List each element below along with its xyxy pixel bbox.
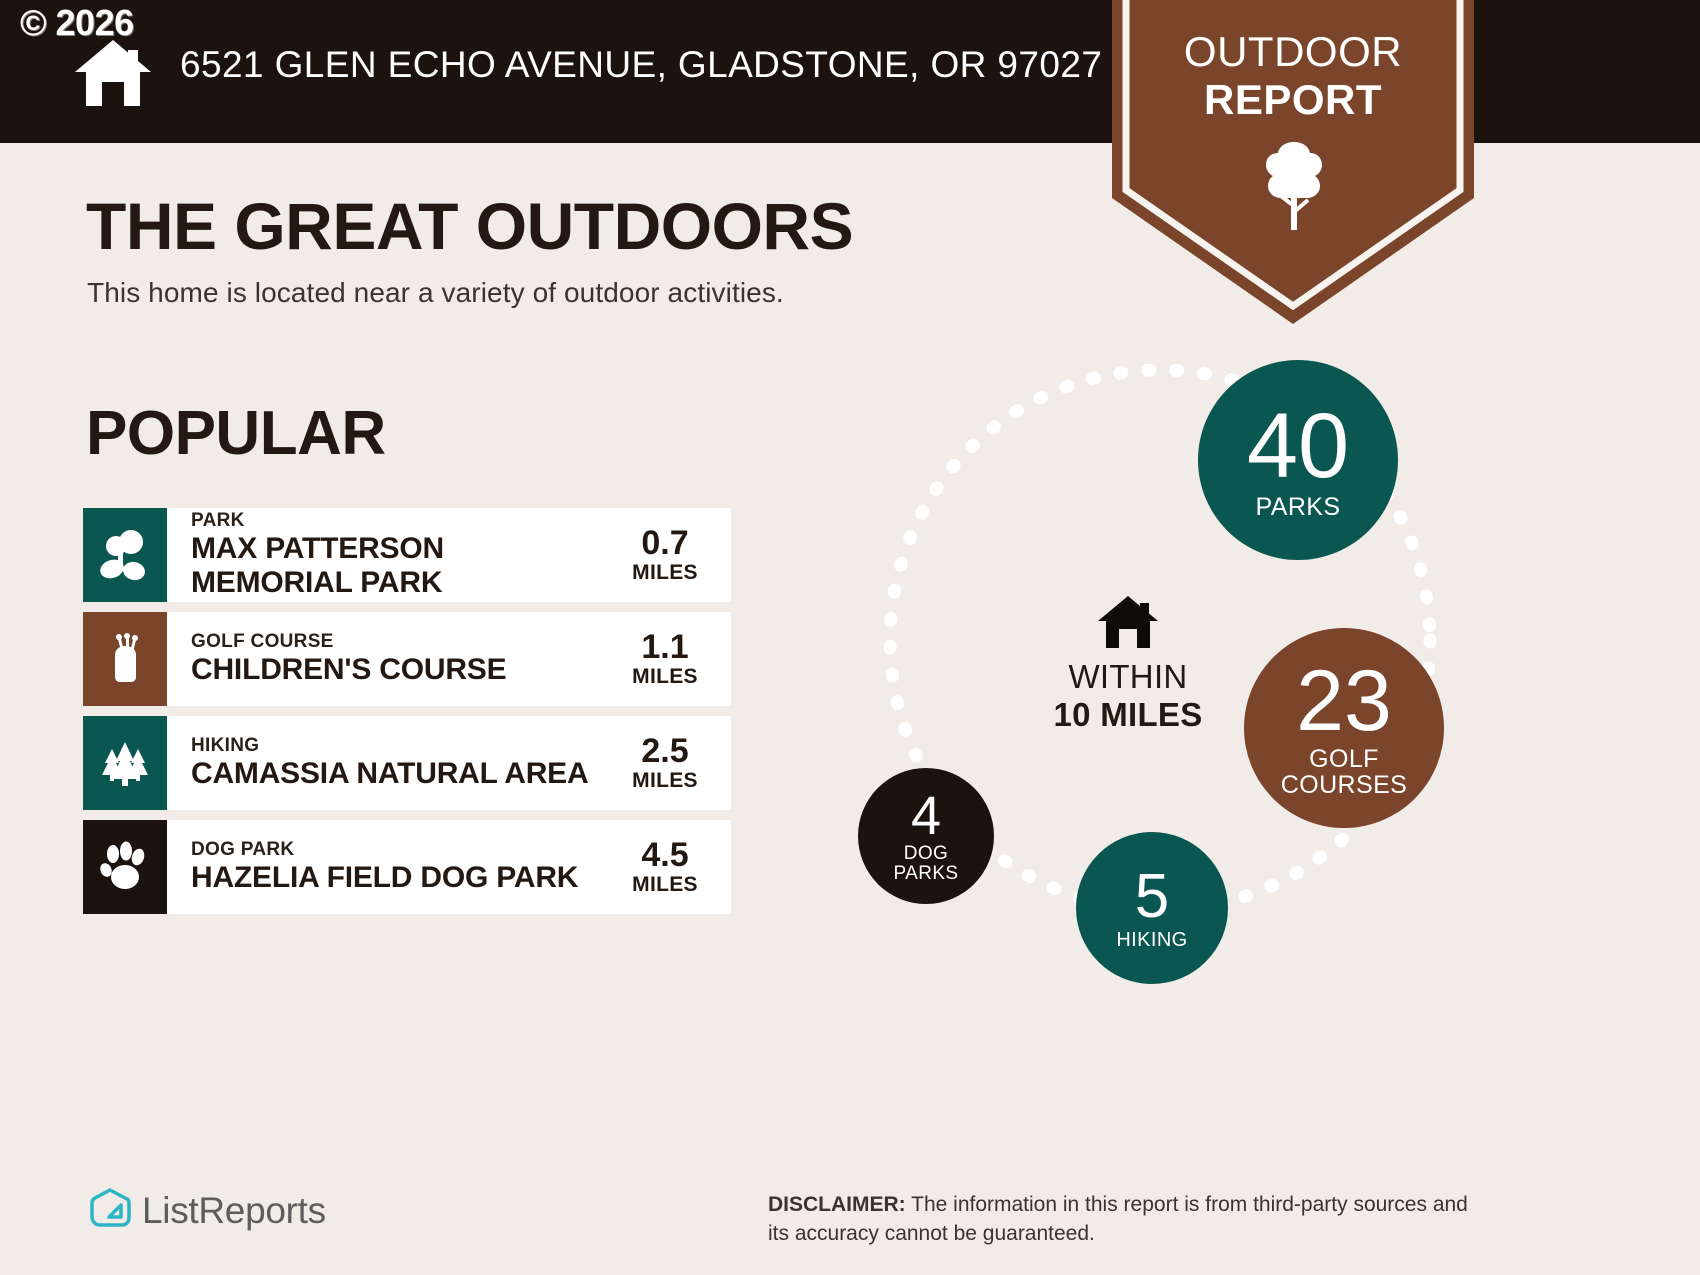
list-item-text: DOG PARK HAZELIA FIELD DOG PARK xyxy=(167,820,605,914)
home-icon xyxy=(72,38,154,108)
list-item-category: DOG PARK xyxy=(191,839,605,861)
bubble-hiking-label: HIKING xyxy=(1116,930,1187,951)
home-icon xyxy=(1096,594,1160,650)
distance-unit: MILES xyxy=(632,561,698,585)
disclaimer: DISCLAIMER: The information in this repo… xyxy=(768,1190,1468,1248)
bubble-dog-value: 4 xyxy=(911,789,941,843)
bubble-parks[interactable]: 40 PARKS xyxy=(1198,360,1398,560)
distance-unit: MILES xyxy=(632,769,698,793)
list-item-distance: 4.5 MILES xyxy=(605,820,731,914)
list-item[interactable]: GOLF COURSE CHILDREN'S COURSE 1.1 MILES xyxy=(83,612,731,706)
golf-bag-icon xyxy=(83,612,167,706)
within-10-miles-bubble-chart: 40 PARKS 23 GOLF COURSES 5 HIKING 4 DOG … xyxy=(820,340,1500,1020)
bubble-parks-value: 40 xyxy=(1247,400,1349,492)
bubble-hiking-value: 5 xyxy=(1135,866,1169,928)
property-address: 6521 GLEN ECHO AVENUE, GLADSTONE, OR 970… xyxy=(180,44,1102,86)
tree-icon xyxy=(1263,140,1325,232)
badge-title-line2: REPORT xyxy=(1112,76,1474,124)
popular-list: PARK MAX PATTERSON MEMORIAL PARK 0.7 MIL… xyxy=(83,508,731,924)
center-label-line2: 10 MILES xyxy=(998,696,1258,734)
list-item-text: PARK MAX PATTERSON MEMORIAL PARK xyxy=(167,508,605,602)
list-item-name: CAMASSIA NATURAL AREA xyxy=(191,757,605,791)
pine-trees-icon xyxy=(83,716,167,810)
page-subtitle: This home is located near a variety of o… xyxy=(87,277,784,309)
listreports-house-icon xyxy=(88,1186,132,1235)
center-label-line1: WITHIN xyxy=(998,658,1258,696)
bubble-golf-value: 23 xyxy=(1296,658,1392,744)
list-item-distance: 0.7 MILES xyxy=(605,508,731,602)
chart-center-label: WITHIN 10 MILES xyxy=(998,658,1258,734)
list-item-text: HIKING CAMASSIA NATURAL AREA xyxy=(167,716,605,810)
park-trees-icon xyxy=(83,508,167,602)
bubble-hiking[interactable]: 5 HIKING xyxy=(1076,832,1228,984)
popular-heading: POPULAR xyxy=(86,398,386,469)
outdoor-report-page: 6521 GLEN ECHO AVENUE, GLADSTONE, OR 970… xyxy=(0,0,1700,1275)
bubble-golf-courses[interactable]: 23 GOLF COURSES xyxy=(1244,628,1444,828)
distance-value: 1.1 xyxy=(641,629,688,665)
list-item-name: CHILDREN'S COURSE xyxy=(191,653,605,687)
paw-print-icon xyxy=(83,820,167,914)
list-item-category: HIKING xyxy=(191,735,605,757)
distance-unit: MILES xyxy=(632,873,698,897)
badge-title-line1: OUTDOOR xyxy=(1112,28,1474,76)
outdoor-report-badge: OUTDOOR REPORT xyxy=(1112,0,1474,324)
distance-unit: MILES xyxy=(632,665,698,689)
list-item-category: PARK xyxy=(191,510,605,532)
badge-title: OUTDOOR REPORT xyxy=(1112,28,1474,124)
bubble-dog-label-line1: DOG xyxy=(904,844,948,864)
list-item[interactable]: HIKING CAMASSIA NATURAL AREA 2.5 MILES xyxy=(83,716,731,810)
list-item[interactable]: DOG PARK HAZELIA FIELD DOG PARK 4.5 MILE… xyxy=(83,820,731,914)
bubble-golf-label-line1: GOLF xyxy=(1309,746,1379,772)
bubble-dog-parks[interactable]: 4 DOG PARKS xyxy=(858,768,994,904)
list-item-text: GOLF COURSE CHILDREN'S COURSE xyxy=(167,612,605,706)
distance-value: 4.5 xyxy=(641,837,688,873)
distance-value: 0.7 xyxy=(641,525,688,561)
listreports-logo[interactable]: ListReports xyxy=(88,1186,326,1235)
bubble-golf-label-line2: COURSES xyxy=(1281,772,1407,798)
copyright-watermark: © 2026 xyxy=(20,2,134,44)
disclaimer-label: DISCLAIMER: xyxy=(768,1193,906,1216)
list-item-distance: 2.5 MILES xyxy=(605,716,731,810)
list-item-distance: 1.1 MILES xyxy=(605,612,731,706)
bubble-parks-label: PARKS xyxy=(1256,494,1341,520)
list-item-name: HAZELIA FIELD DOG PARK xyxy=(191,861,605,895)
list-item-category: GOLF COURSE xyxy=(191,631,605,653)
list-item-name: MAX PATTERSON MEMORIAL PARK xyxy=(191,532,605,600)
bubble-dog-label-line2: PARKS xyxy=(893,864,958,884)
listreports-logo-text: ListReports xyxy=(142,1190,326,1232)
page-title: THE GREAT OUTDOORS xyxy=(86,190,853,262)
list-item[interactable]: PARK MAX PATTERSON MEMORIAL PARK 0.7 MIL… xyxy=(83,508,731,602)
distance-value: 2.5 xyxy=(641,733,688,769)
